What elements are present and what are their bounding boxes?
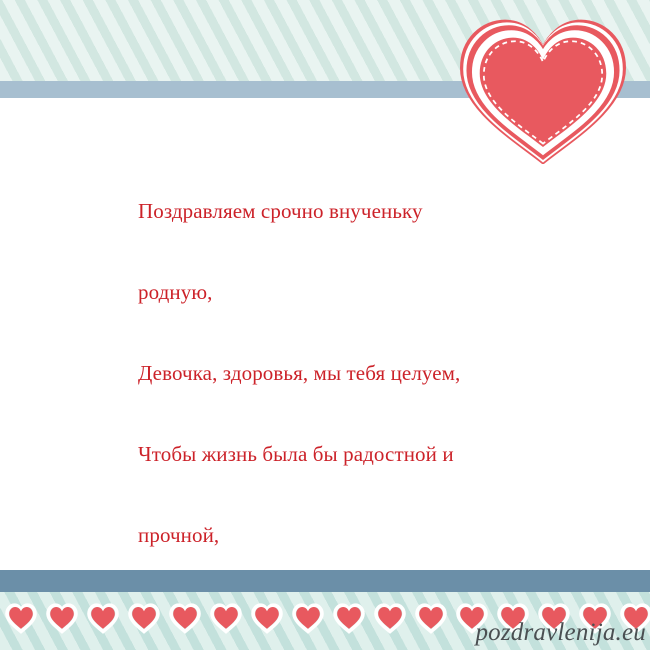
heart-icon <box>373 602 407 634</box>
message-line: прочной, <box>138 522 538 549</box>
heart-icon <box>455 14 631 164</box>
heart-icon <box>45 602 79 634</box>
greeting-card: Поздравляем срочно внученьку родную, Дев… <box>0 0 650 650</box>
heart-icon <box>127 602 161 634</box>
message-line: Чтобы жизнь была бы радостной и <box>138 441 538 468</box>
heart-icon <box>250 602 284 634</box>
heart-icon <box>4 602 38 634</box>
heart-icon <box>414 602 448 634</box>
bottom-dark-strip <box>0 578 650 592</box>
watermark: pozdravlenija.eu <box>475 619 646 647</box>
heart-icon <box>209 602 243 634</box>
heart-icon <box>86 602 120 634</box>
message-line: родную, <box>138 279 538 306</box>
heart-icon <box>291 602 325 634</box>
heart-icon <box>332 602 366 634</box>
message-line: Поздравляем срочно внученьку <box>138 198 538 225</box>
message-line: Девочка, здоровья, мы тебя целуем, <box>138 360 538 387</box>
heart-icon <box>168 602 202 634</box>
